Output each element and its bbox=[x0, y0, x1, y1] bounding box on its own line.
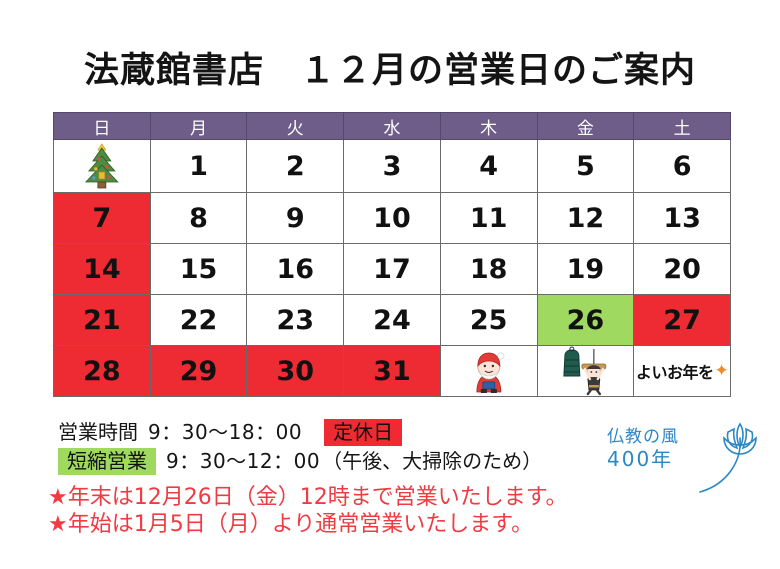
greeting-text: よいお年を bbox=[636, 359, 714, 383]
calendar-day-number: 28 bbox=[83, 358, 121, 385]
christmas-tree-icon bbox=[54, 141, 150, 191]
calendar-day-number: 10 bbox=[373, 205, 411, 232]
legend: 営業時間 9：30〜18：00 定休日 短縮営業 9：30〜12：00 （午後、… bbox=[58, 418, 542, 476]
calendar-day-number: 9 bbox=[286, 205, 305, 232]
calendar-day-cell: 29 bbox=[150, 346, 247, 397]
weekday-header-sun: 日 bbox=[54, 113, 151, 140]
sparkle-icon: ✦ bbox=[714, 361, 728, 381]
calendar-day-number: 4 bbox=[479, 153, 498, 180]
calendar-day-cell: 20 bbox=[634, 244, 731, 295]
calendar-icon-cell bbox=[54, 140, 151, 193]
calendar-day-cell: 26 bbox=[537, 295, 634, 346]
calendar-day-number: 17 bbox=[373, 256, 411, 283]
calendar-week-row: 78910111213 bbox=[54, 193, 731, 244]
calendar-day-number: 15 bbox=[180, 256, 218, 283]
business-day-calendar: 日 月 火 水 木 金 土 12345678910111213141516171… bbox=[53, 112, 731, 397]
calendar-day-cell: 16 bbox=[247, 244, 344, 295]
notice-block: ★年末は12月26日（金）12時まで営業いたします。 ★年始は1月5日（月）より… bbox=[48, 484, 568, 538]
calendar-day-cell: 23 bbox=[247, 295, 344, 346]
calendar-day-number: 27 bbox=[663, 307, 701, 334]
weekday-header-wed: 水 bbox=[344, 113, 441, 140]
calendar-day-number: 8 bbox=[189, 205, 208, 232]
calendar-day-number: 2 bbox=[286, 153, 305, 180]
calendar-day-number: 30 bbox=[276, 358, 314, 385]
calendar-week-row: 28293031 bbox=[54, 346, 731, 397]
calendar-day-number: 31 bbox=[373, 358, 411, 385]
calendar-day-cell: 15 bbox=[150, 244, 247, 295]
calendar-day-cell: 24 bbox=[344, 295, 441, 346]
logo-line2: 400年 bbox=[607, 448, 679, 470]
calendar-day-cell: 21 bbox=[54, 295, 151, 346]
calendar-day-number: 14 bbox=[83, 256, 121, 283]
calendar-week-row: 21222324252627 bbox=[54, 295, 731, 346]
calendar-day-number: 25 bbox=[470, 307, 508, 334]
calendar-day-cell: 1 bbox=[150, 140, 247, 193]
calendar-day-number: 5 bbox=[576, 153, 595, 180]
calendar-day-cell: 28 bbox=[54, 346, 151, 397]
calendar-day-cell: 9 bbox=[247, 193, 344, 244]
calendar-icon-cell bbox=[440, 346, 537, 397]
calendar-icon-cell bbox=[537, 346, 634, 397]
calendar-day-number: 23 bbox=[276, 307, 314, 334]
legend-hours-label: 営業時間 bbox=[58, 418, 138, 447]
calendar-day-number: 19 bbox=[567, 256, 605, 283]
calendar-day-number: 6 bbox=[673, 153, 692, 180]
calendar-day-number: 22 bbox=[180, 307, 218, 334]
calendar-day-number: 24 bbox=[373, 307, 411, 334]
calendar-day-number: 13 bbox=[663, 205, 701, 232]
legend-short-badge: 短縮営業 bbox=[58, 448, 156, 475]
legend-row-short: 短縮営業 9：30〜12：00 （午後、大掃除のため） bbox=[58, 447, 542, 476]
weekday-header-row: 日 月 火 水 木 金 土 bbox=[54, 113, 731, 140]
calendar-day-cell: 14 bbox=[54, 244, 151, 295]
calendar-day-number: 12 bbox=[567, 205, 605, 232]
calendar-day-cell: 12 bbox=[537, 193, 634, 244]
legend-closed-badge: 定休日 bbox=[324, 419, 402, 446]
calendar-day-cell: 17 bbox=[344, 244, 441, 295]
logo-line1: 仏教の風 bbox=[607, 427, 679, 447]
calendar-week-row: 123456 bbox=[54, 140, 731, 193]
calendar-day-number: 1 bbox=[189, 153, 208, 180]
calendar-day-number: 18 bbox=[470, 256, 508, 283]
calendar-day-cell: 19 bbox=[537, 244, 634, 295]
calendar-day-cell: 22 bbox=[150, 295, 247, 346]
calendar-day-cell: 31 bbox=[344, 346, 441, 397]
calendar-day-number: 11 bbox=[470, 205, 508, 232]
calendar-day-cell: 8 bbox=[150, 193, 247, 244]
legend-hours-value: 9：30〜18：00 bbox=[148, 418, 302, 447]
calendar-day-cell: 3 bbox=[344, 140, 441, 193]
calendar-day-cell: 6 bbox=[634, 140, 731, 193]
page-title: 法蔵館書店 １２月の営業日のご案内 bbox=[0, 42, 780, 93]
calendar-day-cell: 13 bbox=[634, 193, 731, 244]
logo-text: 仏教の風 400年 bbox=[607, 426, 679, 470]
calendar-day-cell: 7 bbox=[54, 193, 151, 244]
calendar-day-cell: 18 bbox=[440, 244, 537, 295]
temple-bell-icon bbox=[538, 346, 634, 396]
calendar-day-number: 16 bbox=[276, 256, 314, 283]
bukkyo-no-kaze-logo: 仏教の風 400年 bbox=[600, 404, 765, 496]
weekday-header-sat: 土 bbox=[634, 113, 731, 140]
calendar-day-cell: 30 bbox=[247, 346, 344, 397]
calendar-week-row: 14151617181920 bbox=[54, 244, 731, 295]
notice-year-end: ★年末は12月26日（金）12時まで営業いたします。 bbox=[48, 484, 568, 511]
calendar-day-cell: 27 bbox=[634, 295, 731, 346]
calendar-body: 1234567891011121314151617181920212223242… bbox=[54, 140, 731, 397]
santa-icon bbox=[441, 346, 537, 396]
weekday-header-mon: 月 bbox=[150, 113, 247, 140]
calendar-day-number: 3 bbox=[383, 153, 402, 180]
calendar-day-number: 7 bbox=[92, 205, 111, 232]
legend-row-regular: 営業時間 9：30〜18：00 定休日 bbox=[58, 418, 542, 447]
weekday-header-fri: 金 bbox=[537, 113, 634, 140]
calendar-day-cell: 25 bbox=[440, 295, 537, 346]
calendar-day-cell: 4 bbox=[440, 140, 537, 193]
weekday-header-thu: 木 bbox=[440, 113, 537, 140]
legend-short-value: 9：30〜12：00 bbox=[166, 447, 320, 476]
legend-short-note: （午後、大掃除のため） bbox=[322, 447, 542, 476]
calendar-day-cell: 2 bbox=[247, 140, 344, 193]
calendar-greeting-cell: よいお年を✦ bbox=[634, 346, 731, 397]
calendar-day-number: 26 bbox=[567, 307, 605, 334]
calendar-day-cell: 10 bbox=[344, 193, 441, 244]
weekday-header-tue: 火 bbox=[247, 113, 344, 140]
calendar-day-number: 20 bbox=[663, 256, 701, 283]
notice-new-year: ★年始は1月5日（月）より通常営業いたします。 bbox=[48, 511, 568, 538]
calendar-day-number: 29 bbox=[180, 358, 218, 385]
calendar-day-number: 21 bbox=[83, 307, 121, 334]
calendar-day-cell: 11 bbox=[440, 193, 537, 244]
calendar-day-cell: 5 bbox=[537, 140, 634, 193]
